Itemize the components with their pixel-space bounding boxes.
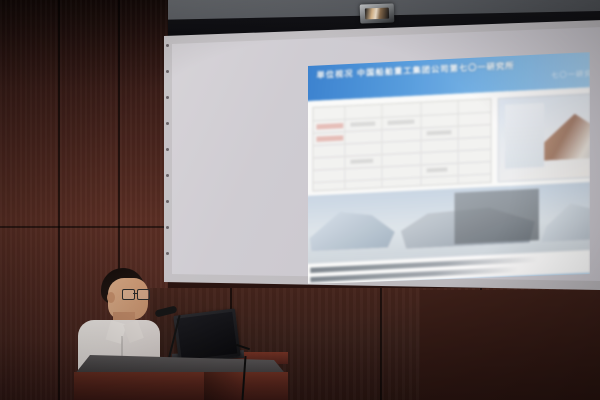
presenter-glasses bbox=[122, 289, 148, 298]
lecture-hall-photo: 単位视况 中国船舶重工集团公司第七〇一研究所 七〇一研究所 bbox=[0, 0, 600, 400]
slide-photo-strip bbox=[300, 181, 590, 264]
slide-subtitle: 七〇一研究所 bbox=[551, 68, 590, 81]
wall-seam bbox=[58, 0, 60, 400]
vessel-photo bbox=[306, 200, 395, 252]
wall-seam bbox=[380, 288, 382, 400]
wall-seam bbox=[0, 226, 168, 228]
screen-fasteners bbox=[166, 44, 170, 256]
wood-wall-right bbox=[420, 290, 600, 400]
slide-image-panel bbox=[498, 93, 590, 183]
vessel-photo bbox=[541, 194, 590, 242]
slide-body bbox=[300, 86, 590, 284]
vessel-photo bbox=[455, 189, 539, 245]
laptop-screen bbox=[177, 312, 238, 361]
ceiling-spotlight-left bbox=[360, 3, 395, 23]
slide-data-table bbox=[312, 98, 491, 191]
projected-slide: 単位视况 中国船舶重工集团公司第七〇一研究所 七〇一研究所 bbox=[300, 52, 590, 284]
presenter-ear bbox=[107, 292, 115, 303]
speaker-podium bbox=[74, 372, 288, 400]
presenter-laptop[interactable] bbox=[173, 308, 240, 363]
